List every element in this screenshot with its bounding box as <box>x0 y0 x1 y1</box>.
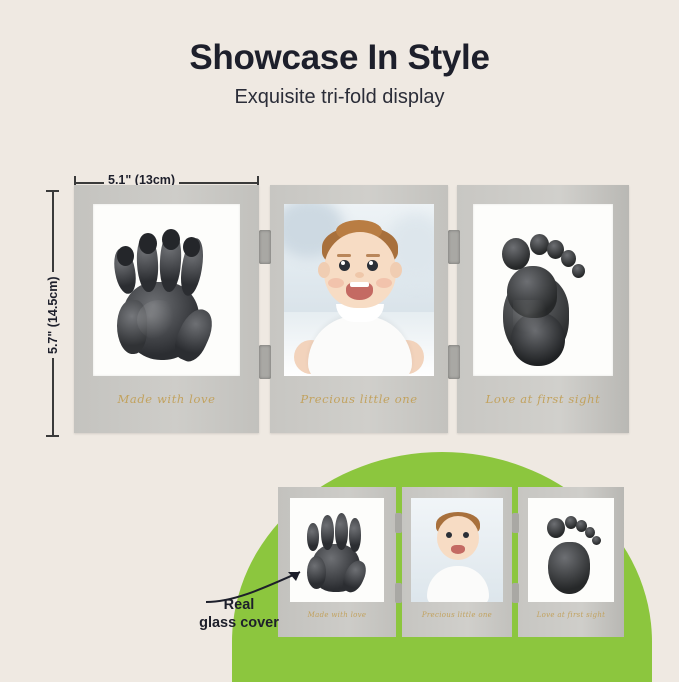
footprint-impression <box>473 204 613 376</box>
product-infographic: Showcase In Style Exquisite tri-fold dis… <box>0 0 679 679</box>
mini-hinge-right-top <box>512 513 519 533</box>
callout-line-2: glass cover <box>199 615 279 631</box>
dim-left-height-tick-top <box>46 190 59 192</box>
mini-hinge-left-top <box>395 513 402 533</box>
mini-hinge-right-bottom <box>512 583 519 603</box>
dim-left-height-tick-bottom <box>46 435 59 437</box>
mini-photo-caption: Precious little one <box>402 611 512 619</box>
mini-panel-footprint: Love at first sight <box>518 487 624 637</box>
handprint-impression <box>93 204 240 376</box>
handprint-caption: Made with love <box>74 392 259 406</box>
hinge-right-top <box>448 230 460 264</box>
frame-panel-footprint: Love at first sight <box>457 185 629 433</box>
page-subtitle: Exquisite tri-fold display <box>0 86 679 109</box>
mini-baby-photo <box>411 498 503 602</box>
hinge-right-bottom <box>448 345 460 379</box>
mini-footprint-caption: Love at first sight <box>518 611 624 619</box>
dim-left-height-label: 5.7" (14.5cm) <box>46 273 60 359</box>
callout-line-1: Real <box>224 597 255 613</box>
hinge-left-top <box>259 230 271 264</box>
hinge-left-bottom <box>259 345 271 379</box>
page-title: Showcase In Style <box>0 38 679 78</box>
mini-panel-photo: Precious little one <box>402 487 512 637</box>
mini-footprint-impression <box>528 498 614 602</box>
mini-handprint-caption: Made with love <box>278 611 396 619</box>
mini-hinge-left-bottom <box>395 583 402 603</box>
frame-panel-handprint: Made with love <box>74 185 259 433</box>
footprint-caption: Love at first sight <box>457 392 629 406</box>
frame-panel-photo: Precious little one <box>270 185 448 433</box>
callout-label: Real glass cover <box>196 596 282 632</box>
baby-photo <box>284 204 434 376</box>
photo-caption: Precious little one <box>270 392 448 406</box>
